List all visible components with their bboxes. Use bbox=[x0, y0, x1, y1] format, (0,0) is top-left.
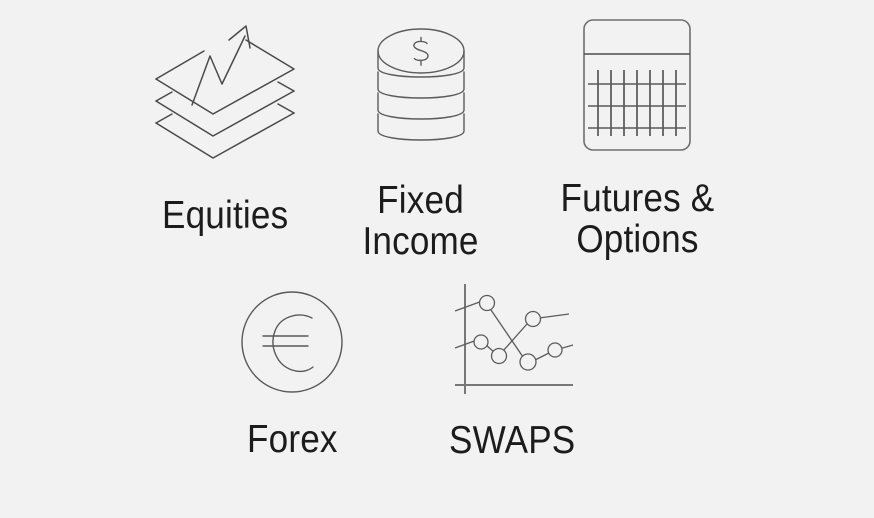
crossing-line-chart-nodes-icon-wrap bbox=[447, 282, 577, 400]
euro-coin-circle-icon bbox=[236, 286, 348, 398]
stacked-sheets-rising-arrow-icon bbox=[150, 18, 300, 176]
calendar-grid-icon-wrap bbox=[578, 14, 696, 158]
asset-class-icon-grid: Equities Fixed Income bbox=[0, 0, 874, 518]
category-swaps[interactable]: SWAPS bbox=[387, 282, 637, 461]
crossing-line-chart-nodes-icon bbox=[447, 282, 577, 400]
category-fixed-income[interactable]: Fixed Income bbox=[296, 18, 546, 263]
coin-stack-dollar-icon bbox=[369, 18, 473, 158]
category-label-fixed-income: Fixed Income bbox=[363, 180, 479, 263]
category-label-futures-options: Futures & Options bbox=[560, 178, 714, 261]
calendar-grid-icon bbox=[578, 14, 696, 158]
category-futures-options[interactable]: Futures & Options bbox=[512, 14, 762, 261]
category-forex[interactable]: Forex bbox=[167, 286, 417, 460]
euro-coin-circle-icon-wrap bbox=[236, 286, 348, 398]
stacked-sheets-rising-arrow-icon-wrap bbox=[150, 18, 300, 176]
category-label-equities: Equities bbox=[162, 195, 288, 236]
coin-stack-dollar-icon-wrap bbox=[369, 18, 473, 158]
category-label-forex: Forex bbox=[247, 419, 338, 460]
category-label-swaps: SWAPS bbox=[449, 420, 575, 461]
